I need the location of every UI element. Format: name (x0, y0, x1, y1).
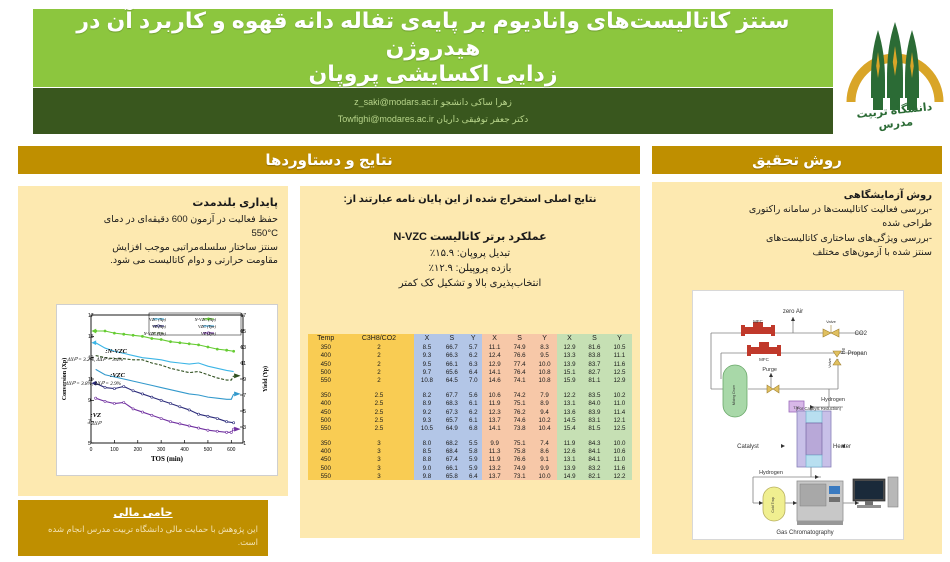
panel-method: روش آزمایشگاهی -بررسی فعالیت کاتالیست‌ها… (652, 182, 942, 554)
table-cell: 75.8 (507, 448, 532, 456)
table-row: 4502.59.267.36.212.376.29.413.683.911.4 (308, 408, 632, 416)
gas-chromatograph-icon (797, 481, 843, 525)
table-col-header: C3H8/CO2 (343, 334, 414, 344)
table-col-header: Y (464, 334, 482, 344)
table-cell: 5.7 (464, 344, 482, 352)
table-cell: 8.3 (532, 344, 557, 352)
table-cell: 550 (308, 472, 343, 480)
results-intro: نتایج اصلی استخراج شده از این پایان نامه… (308, 194, 632, 205)
table-cell: 5.9 (464, 456, 482, 464)
table-cell: 400 (308, 448, 343, 456)
table-cell: 500 (308, 464, 343, 472)
svg-text:5: 5 (88, 441, 91, 447)
table-cell: 7.9 (532, 392, 557, 400)
table-cell: 3 (343, 456, 414, 464)
table-cell: 10.8 (414, 376, 439, 384)
table-cell: 76.4 (507, 368, 532, 376)
catalyst-bed-icon (806, 423, 822, 455)
table-cell: 12.4 (482, 352, 507, 360)
sponsor-title: حامی مالی (28, 506, 258, 519)
svg-text:VZC:: VZC: (110, 372, 125, 379)
table-cell: 7.0 (464, 376, 482, 384)
svg-text:1: 1 (243, 441, 246, 447)
table-cell: 9.9 (482, 439, 507, 447)
table-row: 35038.068.25.59.975.17.411.984.310.0 (308, 439, 632, 447)
table-cell: 74.2 (507, 392, 532, 400)
svg-text:VZ:: VZ: (91, 412, 102, 419)
label-hydrogen-reduction-2: (For Catalyst Reduction) (796, 406, 842, 411)
table-cell: 8.0 (414, 439, 439, 447)
table-cell: 84.3 (582, 439, 607, 447)
label-valve-2: Valve (827, 357, 832, 367)
table-cell: 400 (308, 352, 343, 360)
reactor-setup-diagram: Mixing Drum TIC Cold Trap (692, 290, 904, 540)
table-cell: 2 (343, 352, 414, 360)
table-cell: 8.8 (414, 456, 439, 464)
table-cell: 81.6 (582, 344, 607, 352)
results-table-wrap: TempC3H8/CO2XSYXSYXSY 35028.566.75.711.1… (308, 334, 632, 480)
table-cell: 9.7 (414, 368, 439, 376)
table-cell: 67.7 (439, 392, 464, 400)
authors-banner: زهرا ساکی دانشجو z_saki@modars.ac.ir دکت… (33, 88, 833, 134)
table-row: 40038.568.45.811.375.88.612.684.110.6 (308, 448, 632, 456)
table-cell: 11.9 (557, 439, 582, 447)
table-cell: 13.3 (557, 352, 582, 360)
table-cell: 2.5 (343, 392, 414, 400)
table-cell: 15.4 (557, 424, 582, 432)
stability-chart: 0100200300400500600579111315171357911131… (56, 304, 278, 476)
table-row: 3502.58.267.75.610.674.27.912.283.510.2 (308, 392, 632, 400)
table-cell: 3 (343, 448, 414, 456)
table-cell: 10.2 (532, 416, 557, 424)
stability-line-1: 550°C (28, 227, 278, 241)
poster-header: سنتز کاتالیست‌های وانادیوم بر پایه‌ی تفا… (0, 0, 950, 140)
computer-icon (853, 477, 898, 508)
table-cell: 2.5 (343, 408, 414, 416)
table-cell: 3 (343, 439, 414, 447)
table-cell: 68.4 (439, 448, 464, 456)
table-cell: 6.2 (464, 352, 482, 360)
panel-results: نتایج اصلی استخراج شده از این پایان نامه… (300, 186, 640, 538)
label-mfc-1: MFC (753, 319, 763, 324)
table-cell: 5.9 (464, 464, 482, 472)
stability-line-2: سنتز ساختار سلسله‌مراتبی موجب افزایش (28, 241, 278, 255)
table-cell: 350 (308, 439, 343, 447)
svg-text:17: 17 (240, 313, 246, 319)
svg-text:0: 0 (90, 447, 93, 453)
svg-text:500: 500 (204, 447, 213, 453)
table-cell: 83.5 (582, 392, 607, 400)
table-cell: 10.2 (607, 392, 632, 400)
poster-root: سنتز کاتالیست‌های وانادیوم بر پایه‌ی تفا… (0, 0, 950, 562)
section-header-method: روش تحقیق (652, 146, 942, 174)
table-cell: 2.5 (343, 416, 414, 424)
table-cell: 13.9 (557, 464, 582, 472)
table-cell: 10.0 (607, 439, 632, 447)
table-cell: 450 (308, 360, 343, 368)
table-cell: 2.5 (343, 400, 414, 408)
table-cell: 66.1 (439, 464, 464, 472)
method-title: روش آزمایشگاهی (662, 190, 932, 201)
table-row: 5502.510.564.96.814.173.810.415.481.512.… (308, 424, 632, 432)
table-cell: 66.3 (439, 352, 464, 360)
table-cell: 75.1 (507, 400, 532, 408)
table-cell: 14.5 (557, 416, 582, 424)
table-row: 40029.366.36.212.476.69.513.383.811.1 (308, 352, 632, 360)
label-he: He (841, 348, 847, 355)
stability-line-3: مقاومت حرارتی و دوام کاتالیست می شود. (28, 254, 278, 268)
table-col-header: Temp (308, 334, 343, 344)
table-col-header: Y (532, 334, 557, 344)
table-cell: 6.8 (464, 424, 482, 432)
table-cell: 81.1 (582, 376, 607, 384)
svg-text:15: 15 (240, 329, 246, 335)
table-col-header: X (557, 334, 582, 344)
table-col-header: S (582, 334, 607, 344)
table-cell: 10.5 (414, 424, 439, 432)
table-cell: 10.8 (532, 376, 557, 384)
table-cell: 11.0 (607, 400, 632, 408)
poster-title-banner: سنتز کاتالیست‌های وانادیوم بر پایه‌ی تفا… (33, 9, 833, 87)
table-cell: 74.6 (507, 416, 532, 424)
svg-text:Yield (Yp): Yield (Yp) (262, 366, 269, 392)
svg-text:3: 3 (243, 425, 246, 431)
table-cell: 82.7 (582, 368, 607, 376)
page-title: سنتز کاتالیست‌های وانادیوم بر پایه‌ی تفا… (47, 8, 819, 88)
table-cell: 74.1 (507, 376, 532, 384)
table-cell: 76.6 (507, 352, 532, 360)
table-cell: 9.0 (414, 464, 439, 472)
svg-text:ΔY𝑃 =: ΔY𝑃 = (87, 421, 103, 427)
table-cell: 450 (308, 456, 343, 464)
table-cell: 76.2 (507, 408, 532, 416)
mfc-icon-1 (741, 322, 775, 336)
table-row: 50039.066.15.913.274.99.913.983.211.6 (308, 464, 632, 472)
svg-text:9: 9 (88, 398, 91, 404)
table-cell: 67.4 (439, 456, 464, 464)
table-cell: 65.8 (439, 472, 464, 480)
valve-icon-3 (767, 385, 779, 393)
table-cell: 65.6 (439, 368, 464, 376)
method-line-3: سنتز شده با آزمون‌های مختلف (662, 246, 932, 260)
title-line-1: سنتز کاتالیست‌های وانادیوم بر پایه‌ی تفا… (47, 8, 819, 62)
table-cell: 6.2 (464, 408, 482, 416)
table-cell: 350 (308, 392, 343, 400)
table-cell: 5.6 (464, 392, 482, 400)
table-cell: 13.1 (557, 400, 582, 408)
table-cell: 10.8 (532, 368, 557, 376)
table-cell: 8.2 (414, 392, 439, 400)
table-cell: 81.5 (582, 424, 607, 432)
stability-text-block: پایداری بلندمدت حفظ فعالیت در آزمون 600 … (28, 196, 278, 268)
table-cell: 2.5 (343, 424, 414, 432)
mfc-icon-2 (747, 342, 781, 356)
method-line-2: -بررسی ویژگی‌های ساختاری کاتالیست‌های (662, 232, 932, 246)
table-cell: 10.6 (607, 448, 632, 456)
table-cell: 8.9 (532, 400, 557, 408)
valve-icon-1 (823, 325, 839, 337)
table-col-header: Y (607, 334, 632, 344)
method-text-block: روش آزمایشگاهی -بررسی فعالیت کاتالیست‌ها… (662, 190, 932, 260)
svg-text:N-VZC (Xp): N-VZC (Xp) (194, 317, 217, 322)
table-cell: 11.6 (607, 464, 632, 472)
table-cell: 67.3 (439, 408, 464, 416)
table-cell: 84.1 (582, 448, 607, 456)
table-cell: 9.5 (532, 352, 557, 360)
svg-text:ΔY𝑃 = 3.2%, ΔX𝑃 = 3.4%: ΔY𝑃 = 3.2%, ΔX𝑃 = 3.4% (67, 356, 124, 363)
table-cell: 9.9 (532, 464, 557, 472)
table-row: 550210.864.57.014.674.110.815.981.112.9 (308, 376, 632, 384)
table-cell: 500 (308, 368, 343, 376)
table-cell: 5.8 (464, 448, 482, 456)
mixing-drum-label: Mixing Drum (732, 385, 736, 405)
table-cell: 10.4 (532, 424, 557, 432)
table-row-spacer (308, 432, 632, 439)
table-cell: 9.5 (414, 360, 439, 368)
table-cell: 14.6 (482, 376, 507, 384)
stability-line-0: حفظ فعالیت در آزمون 600 دقیقه‌ای در دمای (28, 213, 278, 227)
table-col-header: S (507, 334, 532, 344)
label-catalyst: Catalyst (737, 444, 759, 450)
section-header-results-label: نتایج و دستاوردها (265, 151, 392, 169)
table-cell: 3 (343, 464, 414, 472)
table-cell: 74.9 (507, 464, 532, 472)
table-cell: 7.4 (532, 439, 557, 447)
svg-text:400: 400 (180, 447, 189, 453)
table-cell: 6.1 (464, 416, 482, 424)
table-cell: 10.0 (532, 360, 557, 368)
table-cell: 12.9 (557, 344, 582, 352)
table-cell: 76.6 (507, 456, 532, 464)
table-cell: 66.1 (439, 360, 464, 368)
table-cell: 10.6 (482, 392, 507, 400)
table-row: 55039.865.86.413.773.110.014.982.112.2 (308, 472, 632, 480)
valve-icon-2 (833, 351, 841, 365)
table-cell: 83.1 (582, 416, 607, 424)
highlight-title: عملکرد برتر کاتالیست N-VZC (308, 230, 632, 243)
table-cell: 8.5 (414, 448, 439, 456)
table-cell: 12.9 (607, 376, 632, 384)
table-cell: 68.2 (439, 439, 464, 447)
table-cell: 11.1 (482, 344, 507, 352)
table-cell: 83.8 (582, 352, 607, 360)
table-row: 35028.566.75.711.174.98.312.981.610.5 (308, 344, 632, 352)
highlight-line-2: انتخاب‌پذیری بالا و تشکیل کک کمتر (308, 276, 632, 291)
table-cell: 9.8 (414, 472, 439, 480)
table-cell: 500 (308, 416, 343, 424)
table-cell: 14.1 (482, 368, 507, 376)
table-cell: 450 (308, 408, 343, 416)
table-cell: 550 (308, 424, 343, 432)
table-cell: 13.1 (557, 456, 582, 464)
table-col-header: X (482, 334, 507, 344)
table-cell: 2 (343, 360, 414, 368)
cold-trap-label: Cold Trap (771, 497, 775, 513)
method-line-0: -بررسی فعالیت کاتالیست‌ها در سامانه راکت… (662, 203, 932, 217)
table-cell: 11.9 (482, 400, 507, 408)
table-cell: 2 (343, 376, 414, 384)
svg-text:13: 13 (240, 345, 246, 351)
label-valve-1: Valve (826, 319, 836, 324)
method-line-1: طراحی شده (662, 217, 932, 231)
svg-text:15: 15 (88, 334, 94, 340)
svg-text:VZC (Ypr): VZC (Ypr) (198, 324, 217, 329)
svg-text:VZ (Xp): VZ (Xp) (152, 324, 167, 329)
svg-text:Conversion (Xp): Conversion (Xp) (61, 358, 68, 401)
table-cell: 77.4 (507, 360, 532, 368)
table-cell: 83.9 (582, 408, 607, 416)
table-cell: 65.7 (439, 416, 464, 424)
table-cell: 8.9 (414, 400, 439, 408)
results-table-body: 35028.566.75.711.174.98.312.981.610.5400… (308, 344, 632, 481)
table-cell: 9.4 (532, 408, 557, 416)
table-cell: 9.2 (414, 408, 439, 416)
table-cell: 2 (343, 344, 414, 352)
table-cell: 6.3 (464, 360, 482, 368)
table-row: 45038.867.45.911.976.69.113.184.111.0 (308, 456, 632, 464)
table-cell: 11.6 (607, 360, 632, 368)
svg-text:5: 5 (243, 409, 246, 415)
section-header-results: نتایج و دستاوردها (18, 146, 640, 174)
table-cell: 73.1 (507, 472, 532, 480)
svg-text:17: 17 (88, 313, 94, 319)
section-header-method-label: روش تحقیق (752, 151, 842, 169)
table-cell: 3 (343, 472, 414, 480)
table-cell: 83.7 (582, 360, 607, 368)
table-cell: 9.3 (414, 352, 439, 360)
table-row: 5002.59.365.76.113.774.610.214.583.112.1 (308, 416, 632, 424)
results-table-header-row: TempC3H8/CO2XSYXSYXSY (308, 334, 632, 344)
svg-text:N-VZC:: N-VZC: (105, 348, 127, 355)
table-cell: 13.9 (557, 360, 582, 368)
table-row: 45029.566.16.312.977.410.013.983.711.6 (308, 360, 632, 368)
highlight-line-0: تبدیل پروپان: ۱۵.۹٪ (308, 246, 632, 261)
results-table-head: TempC3H8/CO2XSYXSYXSY (308, 334, 632, 344)
svg-text:600: 600 (227, 447, 236, 453)
table-cell: 14.1 (482, 424, 507, 432)
table-cell: 10.0 (532, 472, 557, 480)
label-gas-chromatography: Gas Chromatography (776, 530, 833, 536)
table-cell: 9.3 (414, 416, 439, 424)
table-cell: 15.9 (557, 376, 582, 384)
svg-text:11: 11 (241, 361, 246, 367)
table-cell: 66.7 (439, 344, 464, 352)
table-cell: 13.7 (482, 472, 507, 480)
reactor-bottom-icon (806, 455, 822, 467)
table-cell: 2 (343, 368, 414, 376)
table-cell: 82.1 (582, 472, 607, 480)
label-propan: Propan (848, 351, 867, 357)
table-cell: 11.3 (482, 448, 507, 456)
label-hydrogen-reduction-1: Hydrogen (821, 397, 845, 403)
title-line-2: زدایی اکسایشی پروپان (47, 61, 819, 88)
svg-text:7: 7 (243, 393, 246, 399)
svg-text:200: 200 (134, 447, 143, 453)
stability-title: پایداری بلندمدت (28, 196, 278, 209)
table-col-header: X (414, 334, 439, 344)
table-cell: 10.5 (607, 344, 632, 352)
stability-chart-svg: 0100200300400500600579111315171357911131… (57, 305, 277, 475)
table-cell: 84.0 (582, 400, 607, 408)
table-cell: 13.7 (482, 416, 507, 424)
highlight-line-1: بازده پروپیلن: ۱۲.۹٪ (308, 261, 632, 276)
table-cell: 12.2 (557, 392, 582, 400)
table-cell: 6.1 (464, 400, 482, 408)
panel-stability: پایداری بلندمدت حفظ فعالیت در آزمون 600 … (18, 186, 288, 496)
table-row: 4002.58.968.36.111.975.18.913.184.011.0 (308, 400, 632, 408)
table-cell: 11.4 (607, 408, 632, 416)
svg-text:VZC (Xp): VZC (Xp) (149, 317, 166, 322)
label-heater: Heater (833, 444, 851, 450)
table-row: 50029.765.66.414.176.410.815.182.712.5 (308, 368, 632, 376)
table-cell: 84.1 (582, 456, 607, 464)
table-cell: 9.1 (532, 456, 557, 464)
label-mfc-2: MFC (759, 357, 769, 362)
sponsor-inner: حامی مالی این پژوهش با حمایت مالی دانشگا… (18, 500, 268, 553)
table-cell: 64.9 (439, 424, 464, 432)
table-cell: 6.4 (464, 368, 482, 376)
table-cell: 13.6 (557, 408, 582, 416)
table-cell: 12.3 (482, 408, 507, 416)
svg-text:300: 300 (157, 447, 166, 453)
table-cell: 83.2 (582, 464, 607, 472)
label-purge: Purge (762, 367, 777, 373)
results-table: TempC3H8/CO2XSYXSYXSY 35028.566.75.711.1… (308, 334, 632, 480)
table-cell: 74.9 (507, 344, 532, 352)
table-cell: 73.8 (507, 424, 532, 432)
table-cell: 15.1 (557, 368, 582, 376)
svg-text:TOS (min): TOS (min) (151, 455, 184, 463)
table-row-spacer (308, 385, 632, 392)
label-zero-air: zero Air (783, 309, 803, 315)
label-hydrogen-out: Hydrogen (759, 470, 783, 476)
svg-text:100: 100 (110, 447, 119, 453)
table-cell: 11.1 (607, 352, 632, 360)
svg-text:ΔY𝑃 = 3.8%, ΔX𝑃 = 2.9%: ΔY𝑃 = 3.8%, ΔX𝑃 = 2.9% (65, 381, 122, 387)
results-highlights: عملکرد برتر کاتالیست N-VZC تبدیل پروپان:… (308, 230, 632, 291)
reactor-top-icon (806, 411, 822, 423)
table-cell: 64.5 (439, 376, 464, 384)
table-cell: 14.9 (557, 472, 582, 480)
table-cell: 400 (308, 400, 343, 408)
panel-sponsor: حامی مالی این پژوهش با حمایت مالی دانشگا… (18, 500, 268, 556)
table-cell: 6.4 (464, 472, 482, 480)
label-co2: CO2 (855, 331, 868, 337)
table-cell: 12.2 (607, 472, 632, 480)
table-cell: 68.3 (439, 400, 464, 408)
table-cell: 5.5 (464, 439, 482, 447)
table-cell: 13.2 (482, 464, 507, 472)
svg-text:9: 9 (243, 377, 246, 383)
table-cell: 12.5 (607, 424, 632, 432)
table-cell: 12.5 (607, 368, 632, 376)
sponsor-body: این پژوهش با حمایت مالی دانشگاه تربیت مد… (28, 523, 258, 549)
university-logo: دانشگاه تربیت مدرس (845, 6, 945, 134)
table-cell: 11.0 (607, 456, 632, 464)
table-cell: 8.6 (532, 448, 557, 456)
author-supervisor: دکتر جعفر توفیقی داریان Towfighi@modares… (338, 114, 529, 125)
author-student: زهرا ساکی دانشجو z_saki@modars.ac.ir (354, 97, 512, 108)
table-col-header: S (439, 334, 464, 344)
table-cell: 350 (308, 344, 343, 352)
table-cell: 8.5 (414, 344, 439, 352)
table-cell: 75.1 (507, 439, 532, 447)
table-cell: 550 (308, 376, 343, 384)
table-cell: 12.9 (482, 360, 507, 368)
table-cell: 12.6 (557, 448, 582, 456)
table-cell: 11.9 (482, 456, 507, 464)
reactor-setup-svg: Mixing Drum TIC Cold Trap (693, 291, 903, 539)
